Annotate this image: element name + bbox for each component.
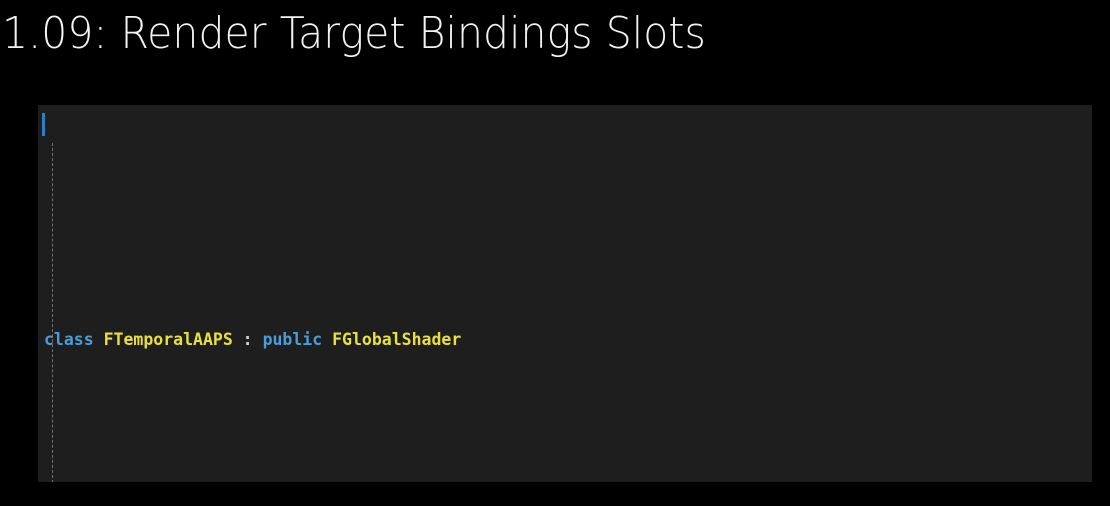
code-line: class FTemporalAAPS : public FGlobalShad… bbox=[38, 325, 1092, 356]
page-title: 1.09: Render Target Bindings Slots bbox=[2, 4, 1025, 66]
slide-root: 1.09: Render Target Bindings Slots class… bbox=[0, 0, 1110, 506]
indent-guide-line bbox=[52, 143, 53, 482]
code-line: { bbox=[38, 477, 1092, 482]
code-editor-content: class FTemporalAAPS : public FGlobalShad… bbox=[38, 105, 1092, 482]
text-caret bbox=[42, 113, 45, 136]
space bbox=[322, 330, 332, 349]
base-class-name: FGlobalShader bbox=[332, 330, 461, 349]
keyword-class: class bbox=[44, 330, 94, 349]
code-editor-panel: class FTemporalAAPS : public FGlobalShad… bbox=[38, 105, 1092, 482]
keyword-public: public bbox=[263, 330, 323, 349]
class-name: FTemporalAAPS bbox=[104, 330, 233, 349]
space bbox=[94, 330, 104, 349]
inheritance-colon: : bbox=[233, 330, 263, 349]
